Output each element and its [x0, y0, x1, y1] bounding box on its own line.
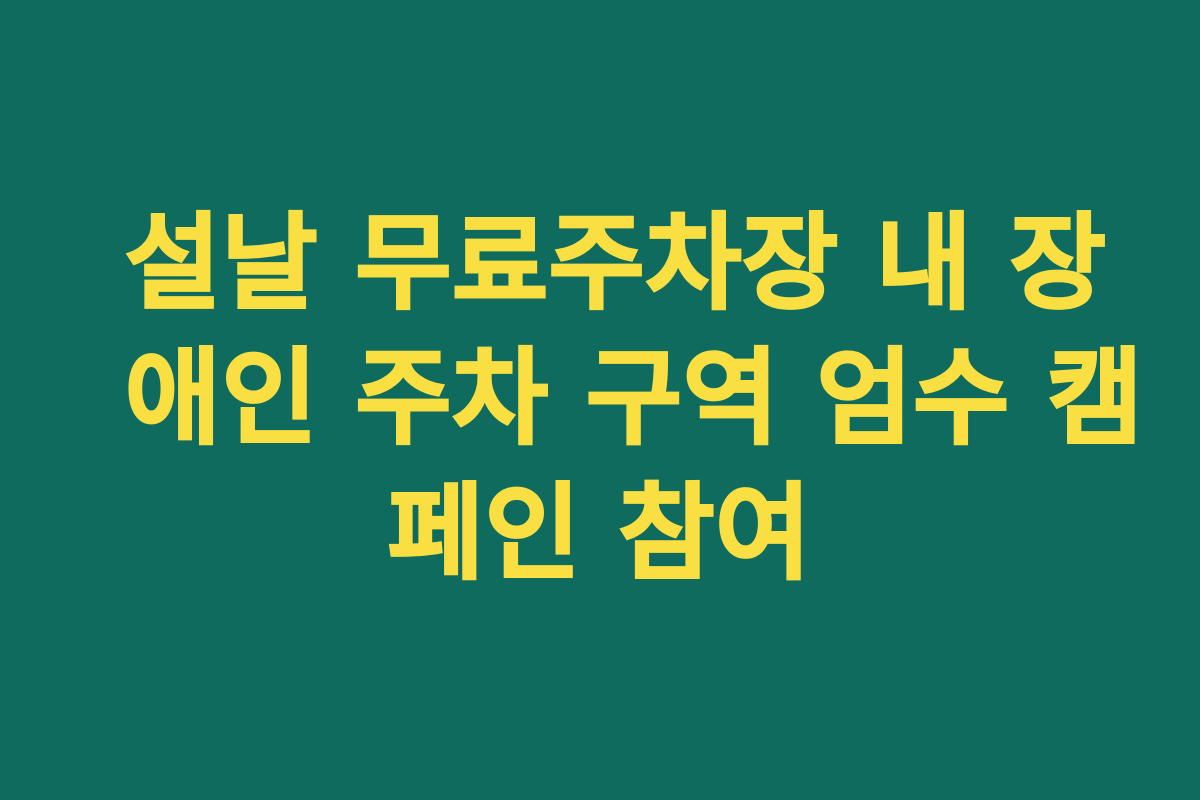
headline-line-2: 애인 주차 구역 엄수 캠 — [125, 331, 1075, 466]
headline-line-3: 페인 참여 — [125, 466, 1075, 601]
headline-line-1: 설날 무료주차장 내 장 — [125, 196, 1075, 331]
banner-canvas: 설날 무료주차장 내 장 애인 주차 구역 엄수 캠 페인 참여 — [0, 0, 1200, 800]
headline-text-block: 설날 무료주차장 내 장 애인 주차 구역 엄수 캠 페인 참여 — [125, 196, 1075, 601]
